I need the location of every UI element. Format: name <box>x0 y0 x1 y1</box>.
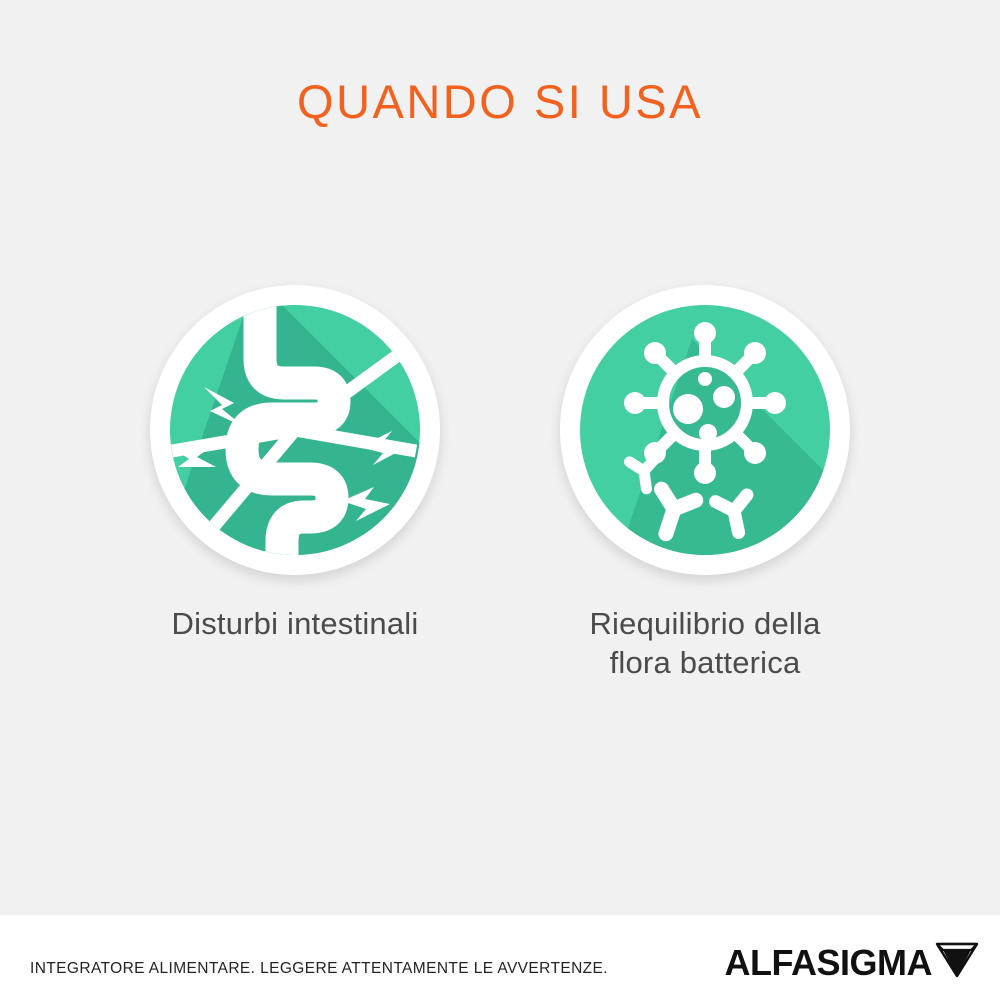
bacteria-flora-icon <box>574 299 836 561</box>
intestine-pain-icon <box>164 299 426 561</box>
footer-disclaimer: INTEGRATORE ALIMENTARE. LEGGERE ATTENTAM… <box>30 960 608 978</box>
card-caption-flora: Riequilibrio della flora batterica <box>589 605 820 683</box>
brand-logo: ALFASIGMA <box>725 943 981 984</box>
brand-name: ALFASIGMA <box>725 943 933 983</box>
badge-circle-flora <box>560 285 850 575</box>
infographic-root: QUANDO SI USA <box>0 0 1000 1000</box>
usage-card-intestinal[interactable]: Disturbi intestinali <box>150 285 440 644</box>
page-title: QUANDO SI USA <box>0 78 1000 125</box>
usage-cards-row: Disturbi intestinali <box>0 285 1000 683</box>
usage-card-flora[interactable]: Riequilibrio della flora batterica <box>560 285 850 683</box>
badge-circle-intestinal <box>150 285 440 575</box>
footer-bar: INTEGRATORE ALIMENTARE. LEGGERE ATTENTAM… <box>0 915 1000 1000</box>
card-caption-intestinal: Disturbi intestinali <box>172 605 419 644</box>
alfasigma-pyramid-icon <box>934 939 980 984</box>
